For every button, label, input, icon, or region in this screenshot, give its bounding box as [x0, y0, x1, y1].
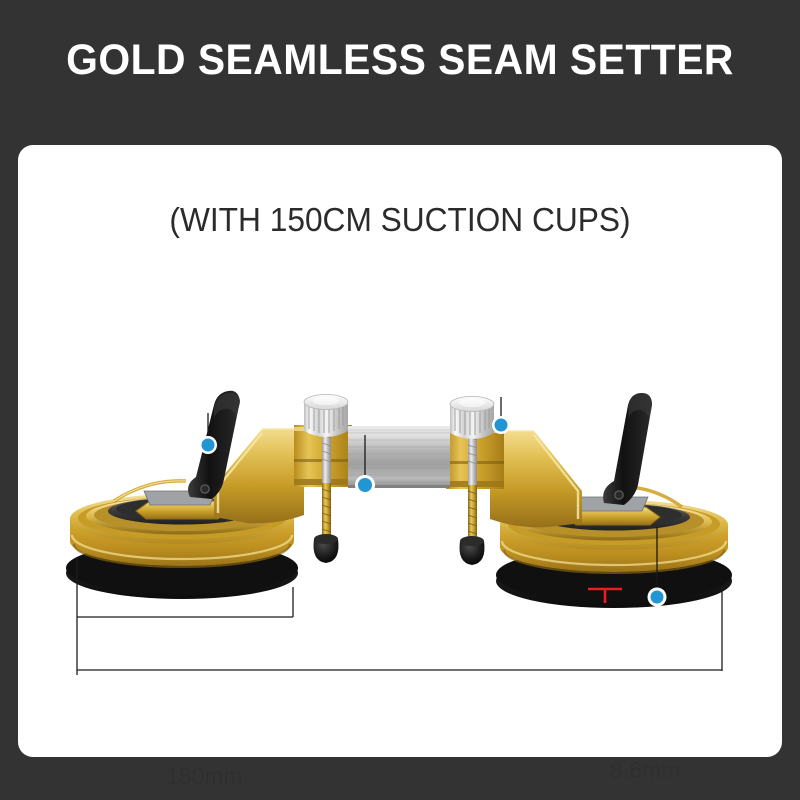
product-illustration [18, 145, 782, 757]
left-lever-rivet [201, 485, 209, 493]
callout-right-knob [492, 397, 510, 434]
right-lever-rivet [615, 491, 623, 499]
product-image-page: GOLD SEAMLESS SEAM SETTER · · · · · (WIT… [0, 0, 800, 800]
page-title: GOLD SEAMLESS SEAM SETTER [20, 36, 780, 85]
right-thumbscrew-knob [450, 397, 494, 440]
header-watermark-text: · · · · · [0, 108, 800, 123]
product-card: (WITH 150CM SUCTION CUPS) [18, 145, 782, 757]
right-suction-cup-assembly [446, 393, 732, 608]
left-thumbscrew-knob [304, 395, 348, 438]
left-suction-cup-assembly [66, 391, 352, 599]
dimension-label-150mm: 150mm [166, 763, 243, 790]
header-band: GOLD SEAMLESS SEAM SETTER · · · · · [0, 0, 800, 145]
dimension-label-8-6mm: 8.6mm [610, 757, 680, 784]
